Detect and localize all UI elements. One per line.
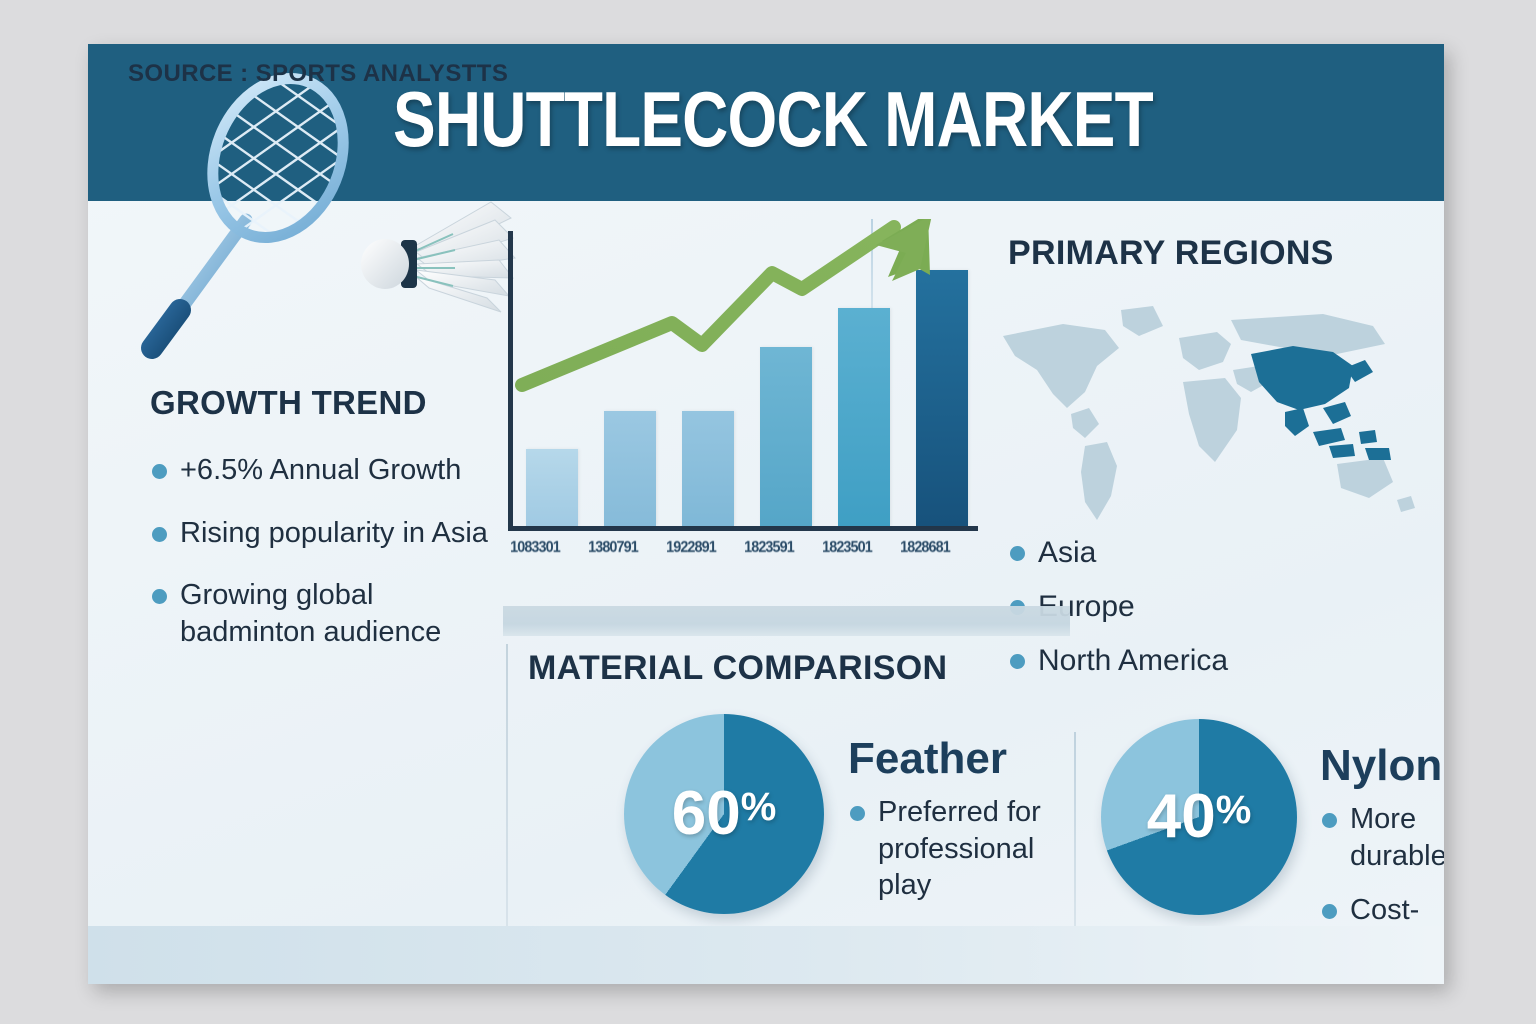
growth-bar-chart: 1083301 1380791 1922891 1823591 1823501 … (486, 219, 996, 564)
primary-regions-section: PRIMARY REGIONS (1008, 234, 1428, 279)
bar-1 (604, 411, 656, 526)
list-item: North America (1008, 642, 1408, 680)
growth-trend-list: +6.5% Annual Growth Rising popularity in… (150, 452, 500, 650)
bar-0 (526, 449, 578, 526)
feather-percent-value: 60 (672, 783, 741, 845)
nylon-pie-chart: 40 % (1101, 719, 1297, 915)
nylon-percent-symbol: % (1216, 790, 1252, 830)
x-tick-label: 1083301 (495, 539, 576, 557)
growth-trend-section: GROWTH TREND +6.5% Annual Growth Rising … (150, 384, 500, 676)
chart-bars (508, 231, 978, 526)
chart-x-axis (508, 526, 978, 531)
x-tick-label: 1828681 (885, 539, 966, 557)
list-item: +6.5% Annual Growth (150, 452, 500, 489)
x-tick-label: 1823591 (729, 539, 810, 557)
primary-regions-title: PRIMARY REGIONS (1008, 234, 1428, 273)
bar-3 (760, 347, 812, 526)
section-divider-band (503, 606, 1070, 636)
x-tick-label: 1380791 (573, 539, 654, 557)
nylon-percent-value: 40 (1147, 786, 1216, 848)
feather-pie-wrap: 60 % (624, 714, 824, 914)
list-item: More durable (1320, 801, 1444, 874)
list-item: Preferred for professional play (848, 794, 1058, 904)
feather-pie-chart: 60 % (624, 714, 824, 914)
source-label: SOURCE : SPORTS ANALYSTTS (128, 60, 508, 88)
feather-name: Feather (848, 734, 1058, 784)
bar-5 (916, 270, 968, 526)
poster: SHUTTLECOCK MARKET (88, 44, 1444, 984)
nylon-pie-wrap: 40 % (1101, 719, 1297, 915)
bar-2 (682, 411, 734, 526)
list-item: Rising popularity in Asia (150, 515, 500, 552)
footer-bar (88, 926, 1444, 984)
bar-4 (838, 308, 890, 526)
infographic-canvas: SHUTTLECOCK MARKET (0, 0, 1536, 1024)
nylon-name: Nylon (1320, 741, 1444, 791)
list-item: Growing global badminton audience (150, 577, 500, 650)
list-item: Asia (1008, 534, 1408, 572)
feather-pie-label: 60 % (624, 714, 824, 914)
x-tick-label: 1922891 (651, 539, 732, 557)
world-map (993, 296, 1433, 536)
growth-trend-title: GROWTH TREND (150, 384, 500, 422)
feather-percent-symbol: % (741, 787, 777, 827)
chart-x-labels: 1083301 1380791 1922891 1823591 1823501 … (508, 539, 978, 569)
x-tick-label: 1823501 (807, 539, 888, 557)
material-comparison-title: MATERIAL COMPARISON (528, 649, 947, 688)
nylon-pie-label: 40 % (1101, 719, 1297, 915)
